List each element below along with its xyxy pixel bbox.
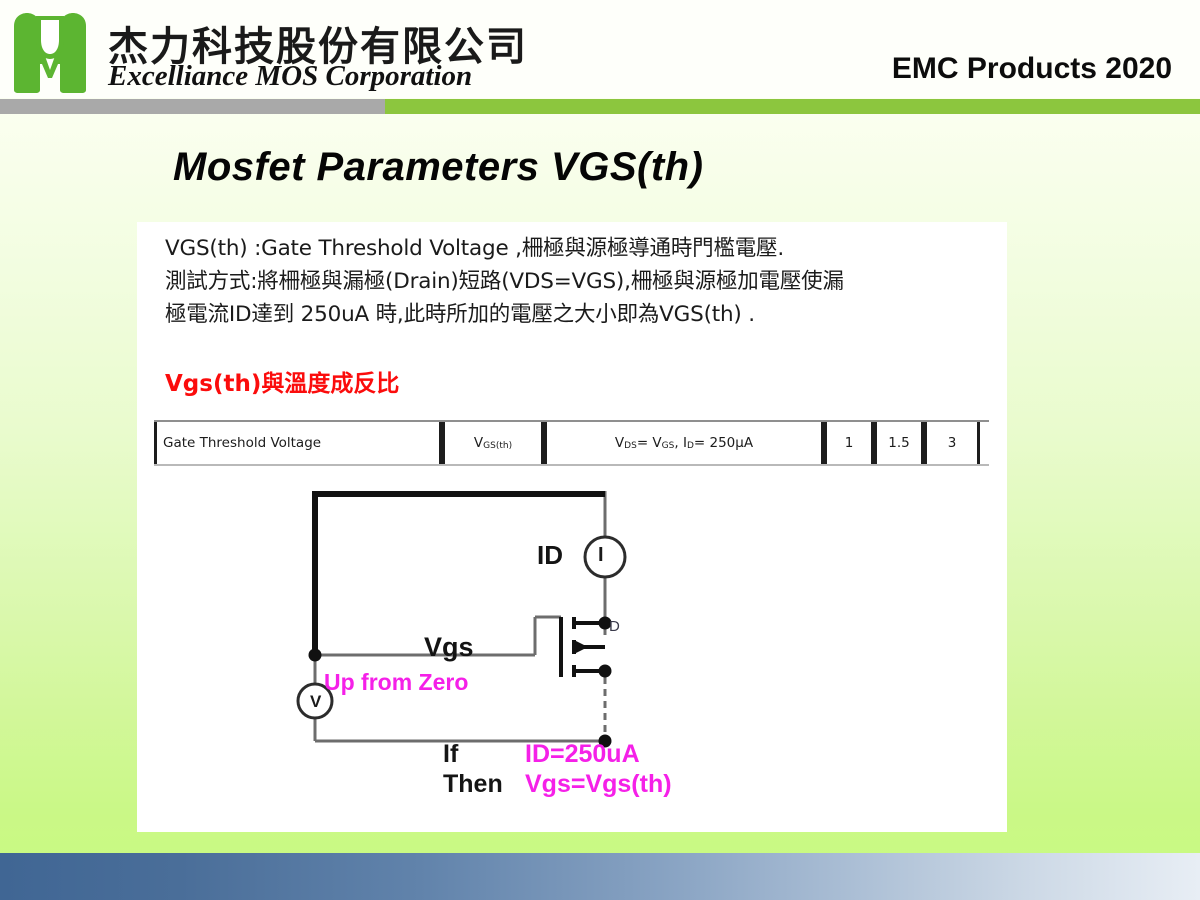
table-cell-symbol: VGS(th) <box>442 422 544 464</box>
symbol-subscript: GS(th) <box>483 441 512 451</box>
content-panel: VGS(th) :Gate Threshold Voltage ,柵極與源極導通… <box>137 222 1007 832</box>
slide-root: 杰力科技股份有限公司 Excelliance MOS Corporation E… <box>0 0 1200 900</box>
description-block: VGS(th) :Gate Threshold Voltage ,柵極與源極導通… <box>165 232 995 331</box>
divider-green-segment <box>385 99 1200 114</box>
divider-gray-segment <box>0 99 385 114</box>
ammeter-label: ID <box>537 540 563 571</box>
up-from-zero-note: Up from Zero <box>324 669 468 696</box>
header-divider-bar <box>0 99 1200 114</box>
drain-terminal-label: D <box>609 618 620 635</box>
description-line-2: 測試方式:將柵極與漏極(Drain)短路(VDS=VGS),柵極與源極加電壓使漏 <box>165 265 995 298</box>
ammeter-symbol <box>585 537 625 577</box>
slide-header: 杰力科技股份有限公司 Excelliance MOS Corporation E… <box>0 0 1200 98</box>
table-cell-min: 1 <box>824 422 874 464</box>
cond-i-sub: D <box>687 441 694 451</box>
cond-v1-sub: DS <box>624 441 637 451</box>
cond-v1: V <box>615 435 624 451</box>
cond-sep: , I <box>674 435 687 451</box>
page-title: Mosfet Parameters VGS(th) <box>173 145 703 190</box>
table-cell-typ: 1.5 <box>874 422 924 464</box>
if-label: If <box>443 740 458 769</box>
cond-v2-sub: GS <box>662 441 675 451</box>
ammeter-glyph: I <box>598 544 604 567</box>
description-line-1: VGS(th) :Gate Threshold Voltage ,柵極與源極導通… <box>165 232 995 265</box>
then-label: Then <box>443 770 503 799</box>
cond-eq1: = V <box>637 435 662 451</box>
company-name-en: Excelliance MOS Corporation <box>108 60 472 93</box>
if-condition-value: ID=250uA <box>525 740 640 769</box>
then-result-value: Vgs=Vgs(th) <box>525 770 672 799</box>
spec-table: Gate Threshold Voltage VGS(th) VDS = VGS… <box>154 420 989 466</box>
table-cell-condition: VDS = VGS, ID = 250µA <box>544 422 824 464</box>
header-product-title: EMC Products 2020 <box>892 52 1172 86</box>
excelliance-mos-logo-icon <box>12 12 88 94</box>
voltmeter-glyph: V <box>310 692 321 712</box>
symbol-main: V <box>474 435 483 451</box>
description-line-3: 極電流ID達到 250uA 時,此時所加的電壓之大小即為VGS(th) . <box>165 298 995 331</box>
cond-eq2: = 250µA <box>694 435 753 451</box>
table-cell-max: 3 <box>924 422 980 464</box>
slide-footer-bar <box>0 853 1200 900</box>
table-cell-parameter: Gate Threshold Voltage <box>154 422 442 464</box>
vgs-source-label: Vgs <box>424 632 474 663</box>
red-highlight-note: Vgs(th)與溫度成反比 <box>165 364 399 398</box>
